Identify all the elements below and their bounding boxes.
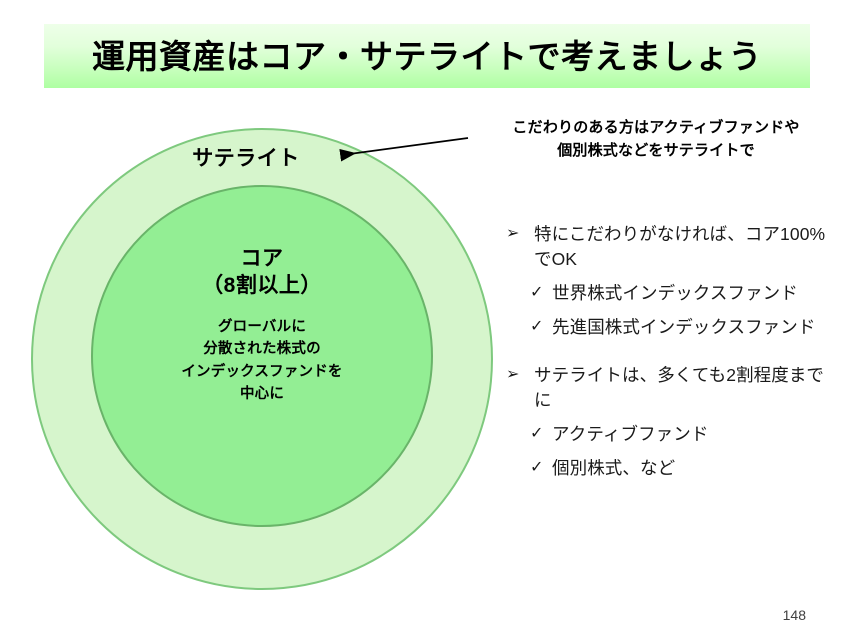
- left-arrow-icon: [330, 130, 475, 166]
- bullet-text: サテライトは、多くても2割程度までに: [534, 363, 836, 413]
- bullet-sub-text: 世界株式インデックスファンド: [552, 281, 836, 306]
- core-description-line: 分散された株式の: [91, 338, 433, 360]
- core-title: コア: [91, 245, 433, 272]
- arrow-bullet-icon: ➢: [506, 363, 534, 387]
- check-icon: ✓: [530, 281, 552, 305]
- core-description-line: 中心に: [91, 383, 433, 405]
- check-icon: ✓: [530, 422, 552, 446]
- core-description-line: グローバルに: [91, 316, 433, 338]
- bullet-item: ➢ 特にこだわりがなければ、コア100%でOK: [506, 222, 836, 272]
- core-description: グローバルに 分散された株式の インデックスファンドを 中心に: [91, 316, 433, 406]
- bullet-item: ➢ サテライトは、多くても2割程度までに: [506, 363, 836, 413]
- bullet-sub-item: ✓ 先進国株式インデックスファンド: [506, 315, 836, 340]
- check-icon: ✓: [530, 456, 552, 480]
- core-text-block: コア （8割以上） グローバルに 分散された株式の インデックスファンドを 中心…: [91, 245, 433, 405]
- satellite-annotation: こだわりのある方はアクティブファンドや 個別株式などをサテライトで: [466, 116, 846, 163]
- bullet-group: ➢ サテライトは、多くても2割程度までに ✓ アクティブファンド ✓ 個別株式、…: [506, 363, 836, 480]
- bullet-sub-item: ✓ 世界株式インデックスファンド: [506, 281, 836, 306]
- bullet-sub-text: 個別株式、など: [552, 456, 836, 481]
- page-number: 148: [783, 607, 806, 623]
- bullet-text: 特にこだわりがなければ、コア100%でOK: [534, 222, 836, 272]
- bullet-group: ➢ 特にこだわりがなければ、コア100%でOK ✓ 世界株式インデックスファンド…: [506, 222, 836, 339]
- bullet-sub-text: 先進国株式インデックスファンド: [552, 315, 836, 340]
- annotation-line: こだわりのある方はアクティブファンドや: [466, 116, 846, 139]
- bullet-sub-item: ✓ 個別株式、など: [506, 456, 836, 481]
- core-subtitle: （8割以上）: [91, 272, 433, 299]
- bullet-sub-text: アクティブファンド: [552, 422, 836, 447]
- annotation-line: 個別株式などをサテライトで: [466, 139, 846, 162]
- check-icon: ✓: [530, 315, 552, 339]
- core-satellite-diagram: サテライト コア （8割以上） グローバルに 分散された株式の インデックスファ…: [0, 0, 520, 637]
- arrow-bullet-icon: ➢: [506, 222, 534, 246]
- core-description-line: インデックスファンドを: [91, 361, 433, 383]
- bullet-sub-item: ✓ アクティブファンド: [506, 422, 836, 447]
- bullet-list: ➢ 特にこだわりがなければ、コア100%でOK ✓ 世界株式インデックスファンド…: [506, 222, 836, 481]
